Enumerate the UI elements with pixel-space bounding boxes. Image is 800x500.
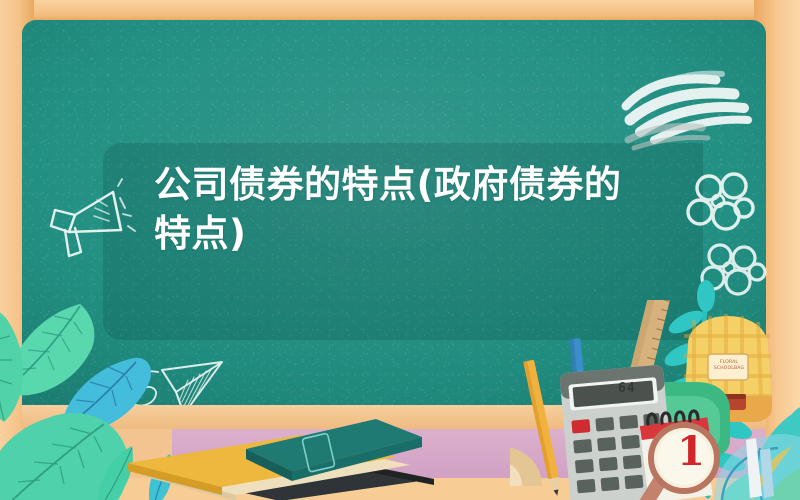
stationery-cluster [510,300,800,500]
backpack-label-line-2: SCHOOLBAG [714,366,744,371]
calculator-brand-label: CALC [576,379,588,384]
backpack-label-line-1: FLORAL [720,360,738,365]
frame-top-edge [0,0,800,22]
megaphone-icon [25,152,145,272]
book-stack [104,405,434,500]
chalk-smudge [610,48,770,160]
page-title: 公司债券的特点(政府债券的特点) [154,160,624,258]
backpack-label: FLORAL SCHOOLBAG [712,360,746,372]
calculator-display: 64 [618,381,636,396]
magnifier-digit: 1 [664,432,718,472]
illustration-canvas: CALC 64 1 FLORAL SCHOOLBAG 公司债券的特点(政府债券的… [0,0,800,500]
